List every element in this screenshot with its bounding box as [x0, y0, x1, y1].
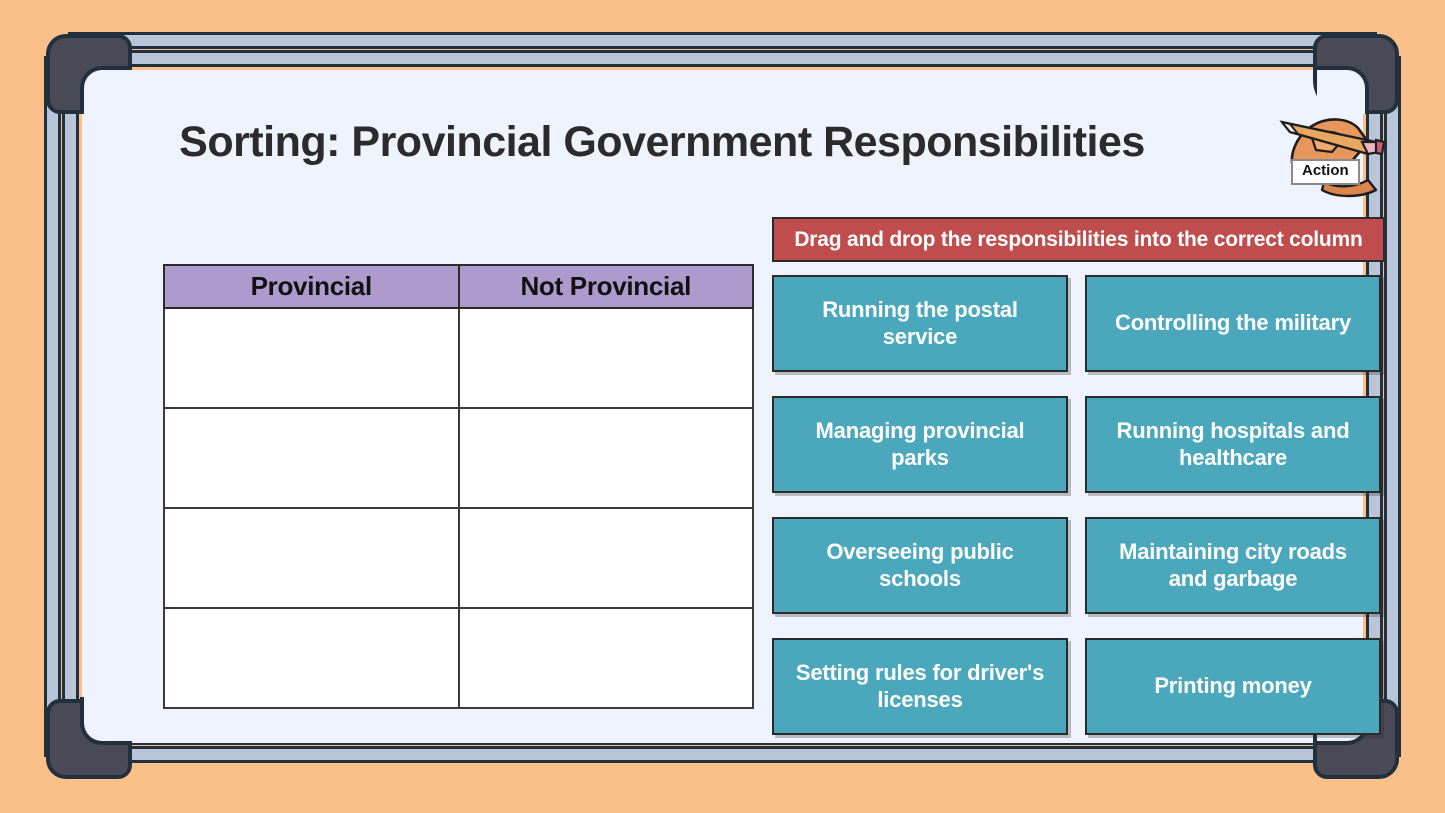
frame-rail-bottom-outer — [68, 746, 1377, 763]
hand-with-pencil-icon: Action — [1272, 112, 1392, 198]
column-header-provincial: Provincial — [164, 265, 459, 308]
draggable-card[interactable]: Running hospitals and healthcare — [1085, 396, 1381, 493]
drop-zone-cell[interactable] — [164, 508, 459, 608]
table-row — [164, 608, 753, 708]
draggable-card[interactable]: Setting rules for driver's licenses — [772, 638, 1068, 735]
frame-rail-left-inner — [62, 56, 79, 757]
drop-zone-cell[interactable] — [164, 408, 459, 508]
board-content: Sorting: Provincial Government Responsib… — [82, 70, 1363, 743]
drop-zone-cell[interactable] — [459, 608, 754, 708]
column-header-not-provincial: Not Provincial — [459, 265, 754, 308]
sorting-table: Provincial Not Provincial — [163, 264, 754, 709]
sorting-table-body — [164, 308, 753, 708]
drop-zone-cell[interactable] — [459, 508, 754, 608]
draggable-card[interactable]: Maintaining city roads and garbage — [1085, 517, 1381, 614]
drop-zone-cell[interactable] — [164, 608, 459, 708]
whiteboard-frame: Sorting: Provincial Government Responsib… — [40, 28, 1405, 785]
draggable-card[interactable]: Managing provincial parks — [772, 396, 1068, 493]
draggable-card-grid: Running the postal serviceControlling th… — [772, 275, 1385, 735]
frame-rail-top-outer — [68, 32, 1377, 49]
table-row — [164, 308, 753, 408]
drop-zone-cell[interactable] — [459, 308, 754, 408]
instruction-banner: Drag and drop the responsibilities into … — [772, 217, 1385, 262]
drop-zone-cell[interactable] — [459, 408, 754, 508]
table-header-row: Provincial Not Provincial — [164, 265, 753, 308]
page-title: Sorting: Provincial Government Responsib… — [82, 118, 1242, 167]
action-badge-label: Action — [1291, 159, 1360, 185]
draggable-card[interactable]: Controlling the military — [1085, 275, 1381, 372]
frame-rail-left-outer — [44, 56, 61, 757]
table-row — [164, 408, 753, 508]
draggable-card[interactable]: Printing money — [1085, 638, 1381, 735]
responsibilities-panel: Drag and drop the responsibilities into … — [772, 217, 1385, 735]
draggable-card[interactable]: Overseeing public schools — [772, 517, 1068, 614]
table-row — [164, 508, 753, 608]
drop-zone-cell[interactable] — [164, 308, 459, 408]
frame-rail-top-inner — [68, 50, 1377, 67]
draggable-card[interactable]: Running the postal service — [772, 275, 1068, 372]
